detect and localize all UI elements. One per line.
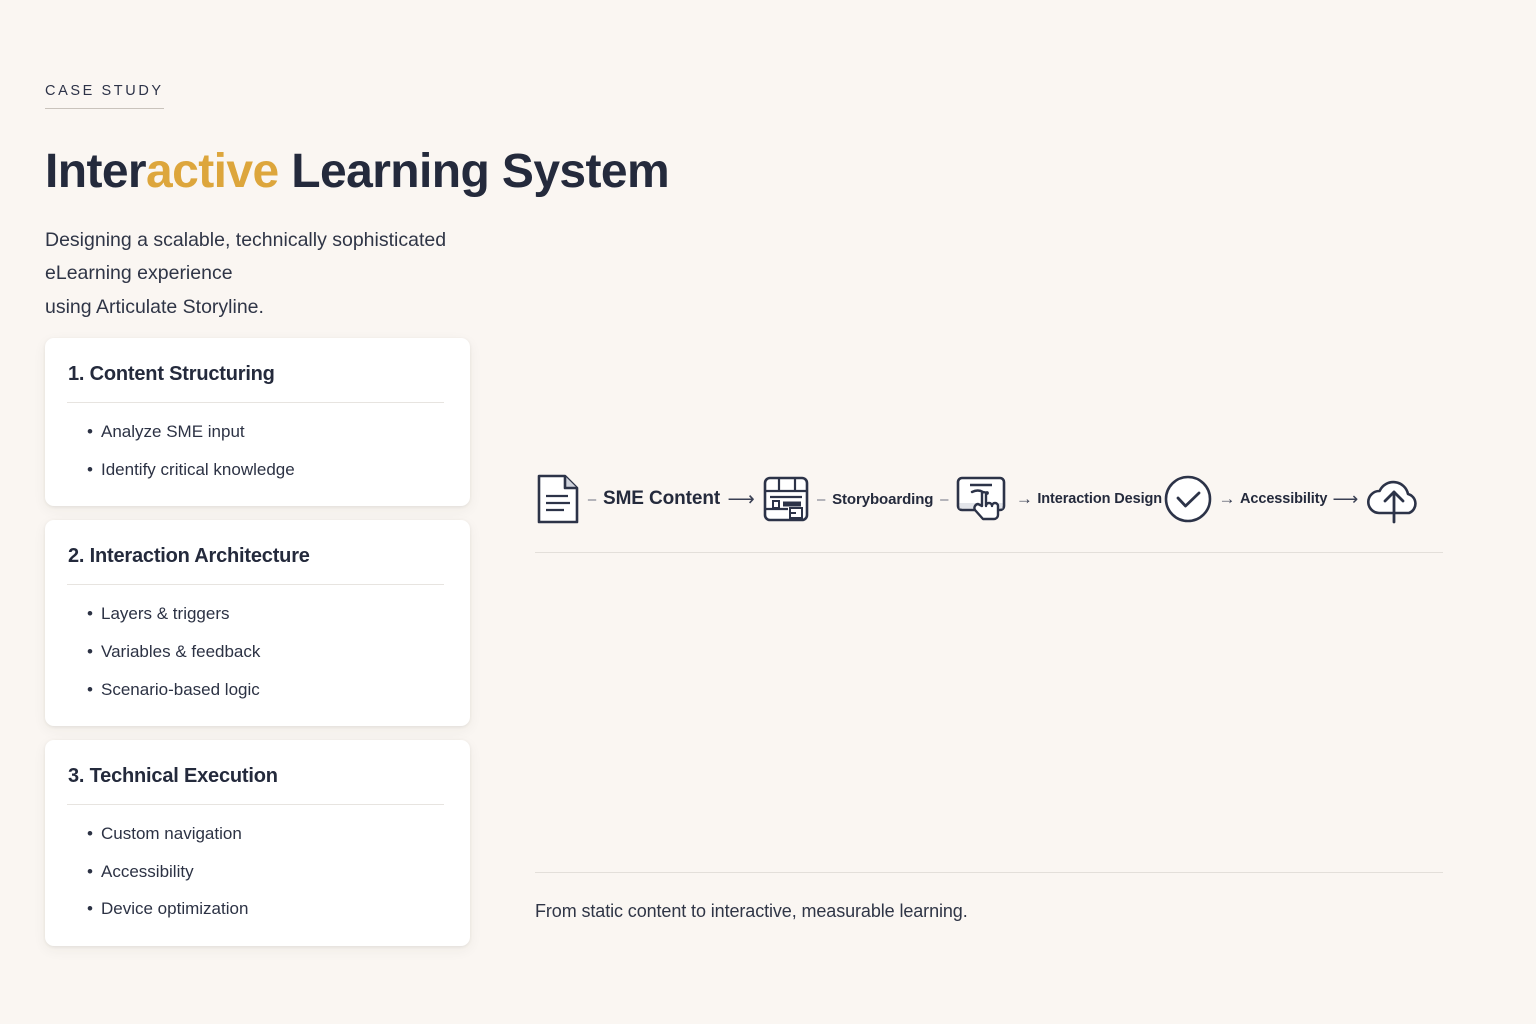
flow-step-label-interaction-design: Interaction Design	[1037, 491, 1162, 507]
phase-card-items: • Custom navigation • Accessibility • De…	[67, 822, 444, 922]
flow-step-label-accessibility: Accessibility	[1240, 491, 1327, 507]
phase-card-technical-execution[interactable]: 3. Technical Execution • Custom navigati…	[45, 740, 470, 946]
cloud-upload-icon	[1363, 473, 1425, 525]
bullet-icon: •	[87, 640, 93, 665]
page-title-tail: Learning System	[279, 145, 670, 198]
list-item-label: Accessibility	[101, 862, 194, 881]
flow-connector-arrow: ⟶	[1327, 489, 1363, 510]
check-circle-icon	[1162, 473, 1214, 525]
document-icon	[535, 473, 581, 525]
eyebrow-label: CASE STUDY	[45, 83, 164, 99]
list-item: • Device optimization	[67, 897, 444, 922]
wireframe-icon	[762, 475, 810, 523]
list-item: • Scenario-based logic	[67, 678, 444, 703]
page-subtitle-line1: Designing a scalable, technically sophis…	[45, 229, 446, 285]
list-item-label: Analyze SME input	[101, 422, 245, 441]
list-item: • Layers & triggers	[67, 602, 444, 627]
list-item-label: Identify critical knowledge	[101, 460, 295, 479]
page-title-accent: active	[146, 145, 279, 198]
page-title-lead: Inter	[45, 145, 146, 198]
case-study-page: CASE STUDY Interactive Learning System D…	[0, 0, 1536, 1024]
phase-card-title: 3. Technical Execution	[67, 765, 444, 805]
list-item-label: Custom navigation	[101, 824, 242, 843]
flow-connector-dash: –	[933, 491, 955, 508]
bullet-icon: •	[87, 822, 93, 847]
list-item: • Analyze SME input	[67, 420, 444, 445]
list-item: • Accessibility	[67, 860, 444, 885]
flow-step-label-storyboarding: Storyboarding	[832, 491, 933, 508]
phase-card-items: • Layers & triggers • Variables & feedba…	[67, 602, 444, 702]
phase-card-interaction-architecture[interactable]: 2. Interaction Architecture • Layers & t…	[45, 520, 470, 726]
phase-card-list: 1. Content Structuring • Analyze SME inp…	[45, 338, 470, 960]
flow-connector-arrow: ⟶	[720, 488, 762, 511]
phase-card-items: • Analyze SME input • Identify critical …	[67, 420, 444, 482]
eyebrow-underline: CASE STUDY	[45, 83, 164, 109]
flow-divider	[535, 552, 1443, 553]
list-item: • Identify critical knowledge	[67, 458, 444, 483]
header-block: CASE STUDY Interactive Learning System D…	[45, 82, 475, 324]
phase-card-title: 2. Interaction Architecture	[67, 545, 444, 585]
flow-step-label-sme-content: SME Content	[603, 488, 720, 510]
list-item-label: Variables & feedback	[101, 642, 260, 661]
flow-connector-dash: –	[810, 491, 832, 508]
list-item: • Custom navigation	[67, 822, 444, 847]
process-flow: – SME Content ⟶ – Storyboa	[535, 462, 1445, 536]
bullet-icon: •	[87, 602, 93, 627]
list-item-label: Layers & triggers	[101, 604, 230, 623]
bullet-icon: •	[87, 860, 93, 885]
phase-card-content-structuring[interactable]: 1. Content Structuring • Analyze SME inp…	[45, 338, 470, 506]
phase-card-title: 1. Content Structuring	[67, 363, 444, 403]
caption-block: From static content to interactive, meas…	[535, 872, 1443, 922]
page-subtitle: Designing a scalable, technically sophis…	[45, 224, 475, 325]
list-item-label: Device optimization	[101, 899, 248, 918]
caption-text: From static content to interactive, meas…	[535, 901, 1443, 922]
list-item: • Variables & feedback	[67, 640, 444, 665]
flow-connector-arrow: →	[1214, 489, 1240, 509]
tap-screen-icon	[955, 471, 1011, 527]
caption-divider	[535, 872, 1443, 873]
bullet-icon: •	[87, 897, 93, 922]
flow-connector-dash: –	[581, 491, 603, 508]
flow-connector-arrow: →	[1011, 489, 1037, 509]
bullet-icon: •	[87, 678, 93, 703]
bullet-icon: •	[87, 458, 93, 483]
list-item-label: Scenario-based logic	[101, 680, 260, 699]
page-subtitle-line2: using Articulate Storyline.	[45, 296, 264, 318]
page-title: Interactive Learning System	[45, 147, 475, 198]
bullet-icon: •	[87, 420, 93, 445]
process-flow-panel: – SME Content ⟶ – Storyboa	[535, 462, 1445, 553]
